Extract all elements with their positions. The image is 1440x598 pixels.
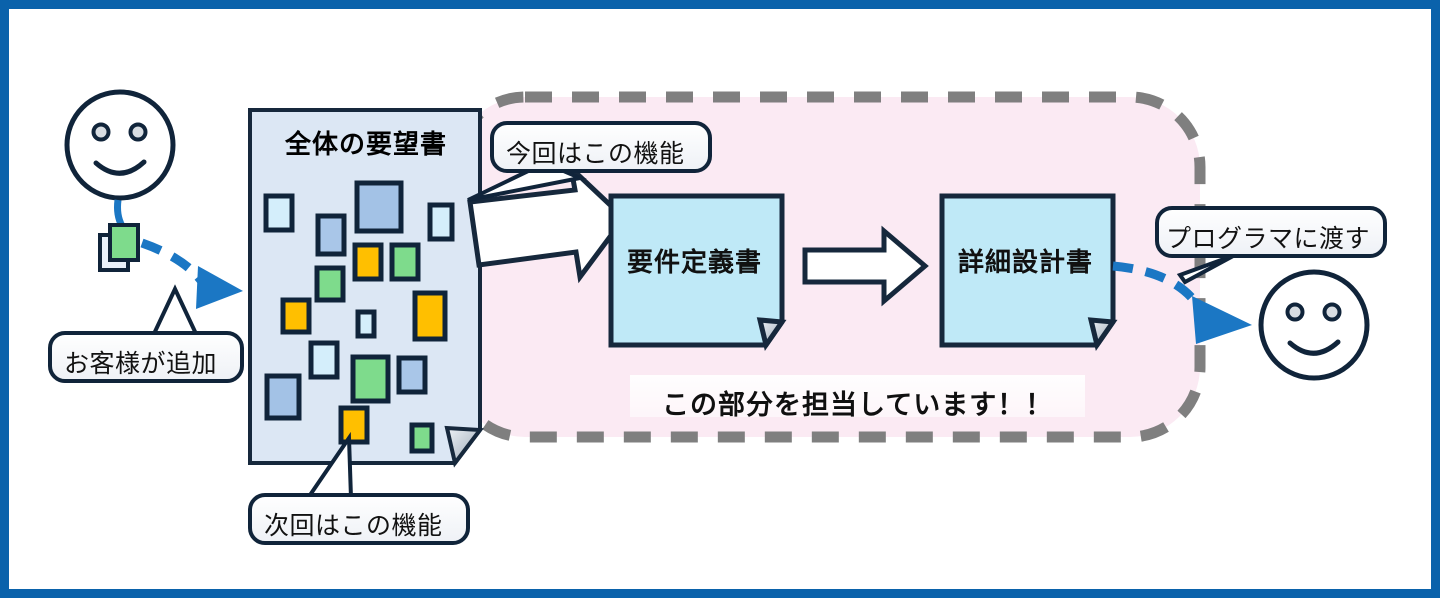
feature-card — [318, 216, 344, 254]
feature-card — [412, 425, 432, 451]
feature-card — [311, 343, 337, 377]
feature-card — [353, 357, 388, 401]
diagram-scene — [0, 0, 1440, 598]
callout-text-next-time-feature: 次回はこの機能 — [264, 506, 443, 542]
feature-card — [399, 358, 425, 392]
doc-label-requirements-spec: 要件定義書 — [627, 242, 762, 279]
doc-label-detailed-design: 詳細設計書 — [958, 242, 1093, 279]
feature-card — [430, 205, 452, 239]
person-programmer — [1261, 272, 1367, 378]
callout-text-hand-to-programmer: プログラマに渡す — [1166, 219, 1370, 255]
feature-card — [267, 376, 299, 418]
sheet-title: 全体の要望書 — [285, 124, 447, 161]
person-customer — [67, 92, 173, 270]
diagram-canvas: 全体の要望書 要件定義書 詳細設計書 この部分を担当しています！！ お客様が追加… — [0, 0, 1440, 598]
feature-card — [358, 312, 374, 336]
feature-card — [283, 300, 309, 332]
feature-card — [341, 408, 367, 442]
callout-text-this-time-feature: 今回はこの機能 — [506, 134, 685, 170]
feature-card — [357, 183, 401, 231]
customer-adds-arrow — [142, 243, 243, 309]
feature-card — [317, 268, 343, 300]
feature-card — [266, 196, 292, 230]
feature-card — [392, 245, 418, 279]
feature-card — [355, 245, 381, 279]
feature-card — [415, 293, 445, 339]
callout-text-customer-adds: お客様が追加 — [64, 344, 217, 380]
scope-banner-text: この部分を担当しています！！ — [662, 383, 1053, 422]
